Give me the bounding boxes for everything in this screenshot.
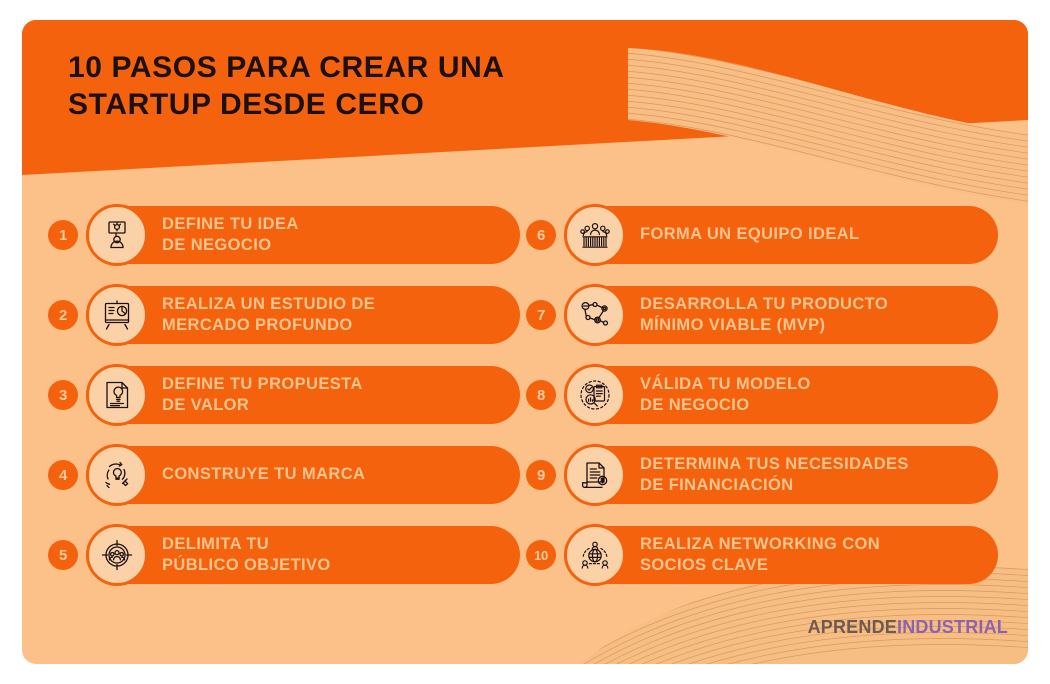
step-number-badge: 1	[48, 220, 78, 250]
step-number-badge: 2	[48, 300, 78, 330]
step-pill[interactable]: FORMA UN EQUIPO IDEAL	[564, 206, 998, 264]
step-item-8[interactable]: 8	[526, 366, 998, 424]
step-label: VÁLIDA TU MODELO DE NEGOCIO	[640, 374, 811, 416]
step-pill[interactable]: VÁLIDA TU MODELO DE NEGOCIO	[564, 366, 998, 424]
target-audience-icon	[86, 524, 148, 586]
step-label: FORMA UN EQUIPO IDEAL	[640, 224, 860, 245]
step-pill[interactable]: DETERMINA TUS NECESIDADES DE FINANCIACIÓ…	[564, 446, 998, 504]
step-number-badge: 6	[526, 220, 556, 250]
step-number-badge: 9	[526, 460, 556, 490]
step-item-3[interactable]: 3 DEFINE TU PROPUESTA DE VALOR	[48, 366, 520, 424]
step-item-2[interactable]: 2 REALIZA UN ESTUDIO DE MERC	[48, 286, 520, 344]
step-label: REALIZA UN ESTUDIO DE MERCADO PROFUNDO	[162, 294, 375, 336]
page-title: 10 PASOS PARA CREAR UNA STARTUP DESDE CE…	[68, 50, 505, 123]
team-group-icon	[564, 204, 626, 266]
step-pill[interactable]: DELIMITA TU PÚBLICO OBJETIVO	[86, 526, 520, 584]
step-label: CONSTRUYE TU MARCA	[162, 464, 365, 485]
step-label: DELIMITA TU PÚBLICO OBJETIVO	[162, 534, 331, 576]
step-pill[interactable]: DEFINE TU IDEA DE NEGOCIO	[86, 206, 520, 264]
hand-holding-idea-sign-icon	[86, 204, 148, 266]
step-label: DETERMINA TUS NECESIDADES DE FINANCIACIÓ…	[640, 454, 909, 496]
steps-column-right: 6	[526, 206, 998, 606]
invoice-money-icon	[564, 444, 626, 506]
step-item-1[interactable]: 1 DEFINE TU I	[48, 206, 520, 264]
step-number-badge: 7	[526, 300, 556, 330]
infographic-poster: 10 PASOS PARA CREAR UNA STARTUP DESDE CE…	[22, 20, 1028, 664]
step-number-badge: 3	[48, 380, 78, 410]
step-number-badge: 8	[526, 380, 556, 410]
step-item-9[interactable]: 9 DETERMINA TUS NECESIDADES	[526, 446, 998, 504]
step-pill[interactable]: DEFINE TU PROPUESTA DE VALOR	[86, 366, 520, 424]
logo-text-industrial: INDUSTRIAL	[897, 617, 1008, 637]
step-number-badge: 4	[48, 460, 78, 490]
step-item-10[interactable]: 10	[526, 526, 998, 584]
step-number-badge: 5	[48, 540, 78, 570]
step-label: REALIZA NETWORKING CON SOCIOS CLAVE	[640, 534, 880, 576]
step-item-7[interactable]: 7	[526, 286, 998, 344]
step-label: DESARROLLA TU PRODUCTO MÍNIMO VIABLE (MV…	[640, 294, 888, 336]
global-network-people-icon	[564, 524, 626, 586]
steps-column-left: 1 DEFINE TU I	[48, 206, 520, 606]
step-item-4[interactable]: 4	[48, 446, 520, 504]
step-number-badge: 10	[526, 540, 556, 570]
step-item-6[interactable]: 6	[526, 206, 998, 264]
checklist-magnifier-icon	[564, 364, 626, 426]
step-item-5[interactable]: 5	[48, 526, 520, 584]
step-pill[interactable]: CONSTRUYE TU MARCA	[86, 446, 520, 504]
document-lightbulb-icon	[86, 364, 148, 426]
brand-logo: APRENDEINDUSTRIAL	[808, 617, 1008, 638]
step-pill[interactable]: REALIZA UN ESTUDIO DE MERCADO PROFUNDO	[86, 286, 520, 344]
network-nodes-icon	[564, 284, 626, 346]
branding-lightbulb-hands-icon	[86, 444, 148, 506]
step-pill[interactable]: DESARROLLA TU PRODUCTO MÍNIMO VIABLE (MV…	[564, 286, 998, 344]
presentation-chart-icon	[86, 284, 148, 346]
step-label: DEFINE TU IDEA DE NEGOCIO	[162, 214, 299, 256]
step-label: DEFINE TU PROPUESTA DE VALOR	[162, 374, 363, 416]
step-pill[interactable]: REALIZA NETWORKING CON SOCIOS CLAVE	[564, 526, 998, 584]
logo-text-aprende: APRENDE	[808, 617, 897, 637]
